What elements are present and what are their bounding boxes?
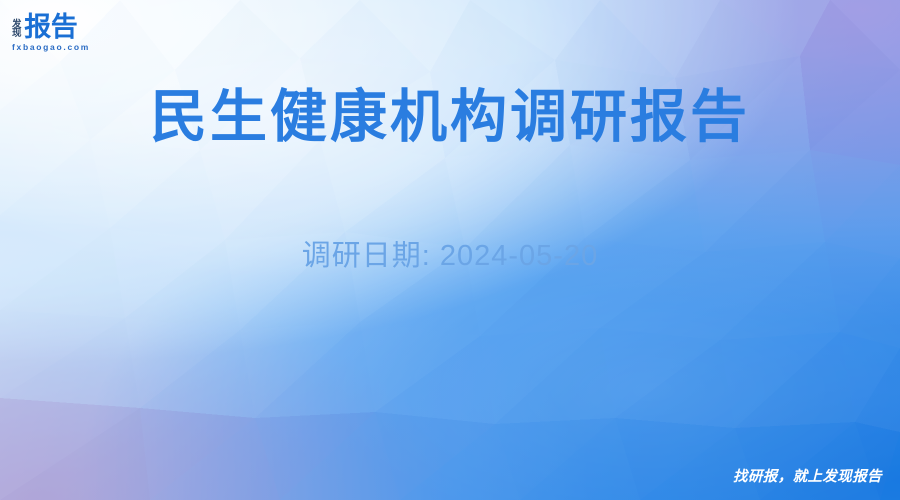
site-logo[interactable]: 发 现 报告 fxbaogao.com (12, 10, 162, 52)
survey-date-subtitle: 调研日期: 2024-05-20 (0, 232, 900, 274)
page-title: 民生健康机构调研报告 (0, 86, 900, 150)
title-block: 民生健康机构调研报告 (0, 86, 900, 150)
logo-wordmark: 报告 (24, 14, 77, 40)
logo-mark-row: 发 现 报告 (12, 10, 162, 40)
logo-char-xian: 现 (12, 29, 21, 39)
footer-watermark: 找研报，就上发现报告 (733, 465, 882, 486)
logo-url: fxbaogao.com (12, 42, 162, 52)
logo-stacked-chars: 发 现 (12, 20, 21, 40)
title-slide: 发 现 报告 fxbaogao.com 民生健康机构调研报告 调研日期: 202… (0, 0, 900, 500)
subtitle-block: 调研日期: 2024-05-20 (0, 232, 900, 274)
